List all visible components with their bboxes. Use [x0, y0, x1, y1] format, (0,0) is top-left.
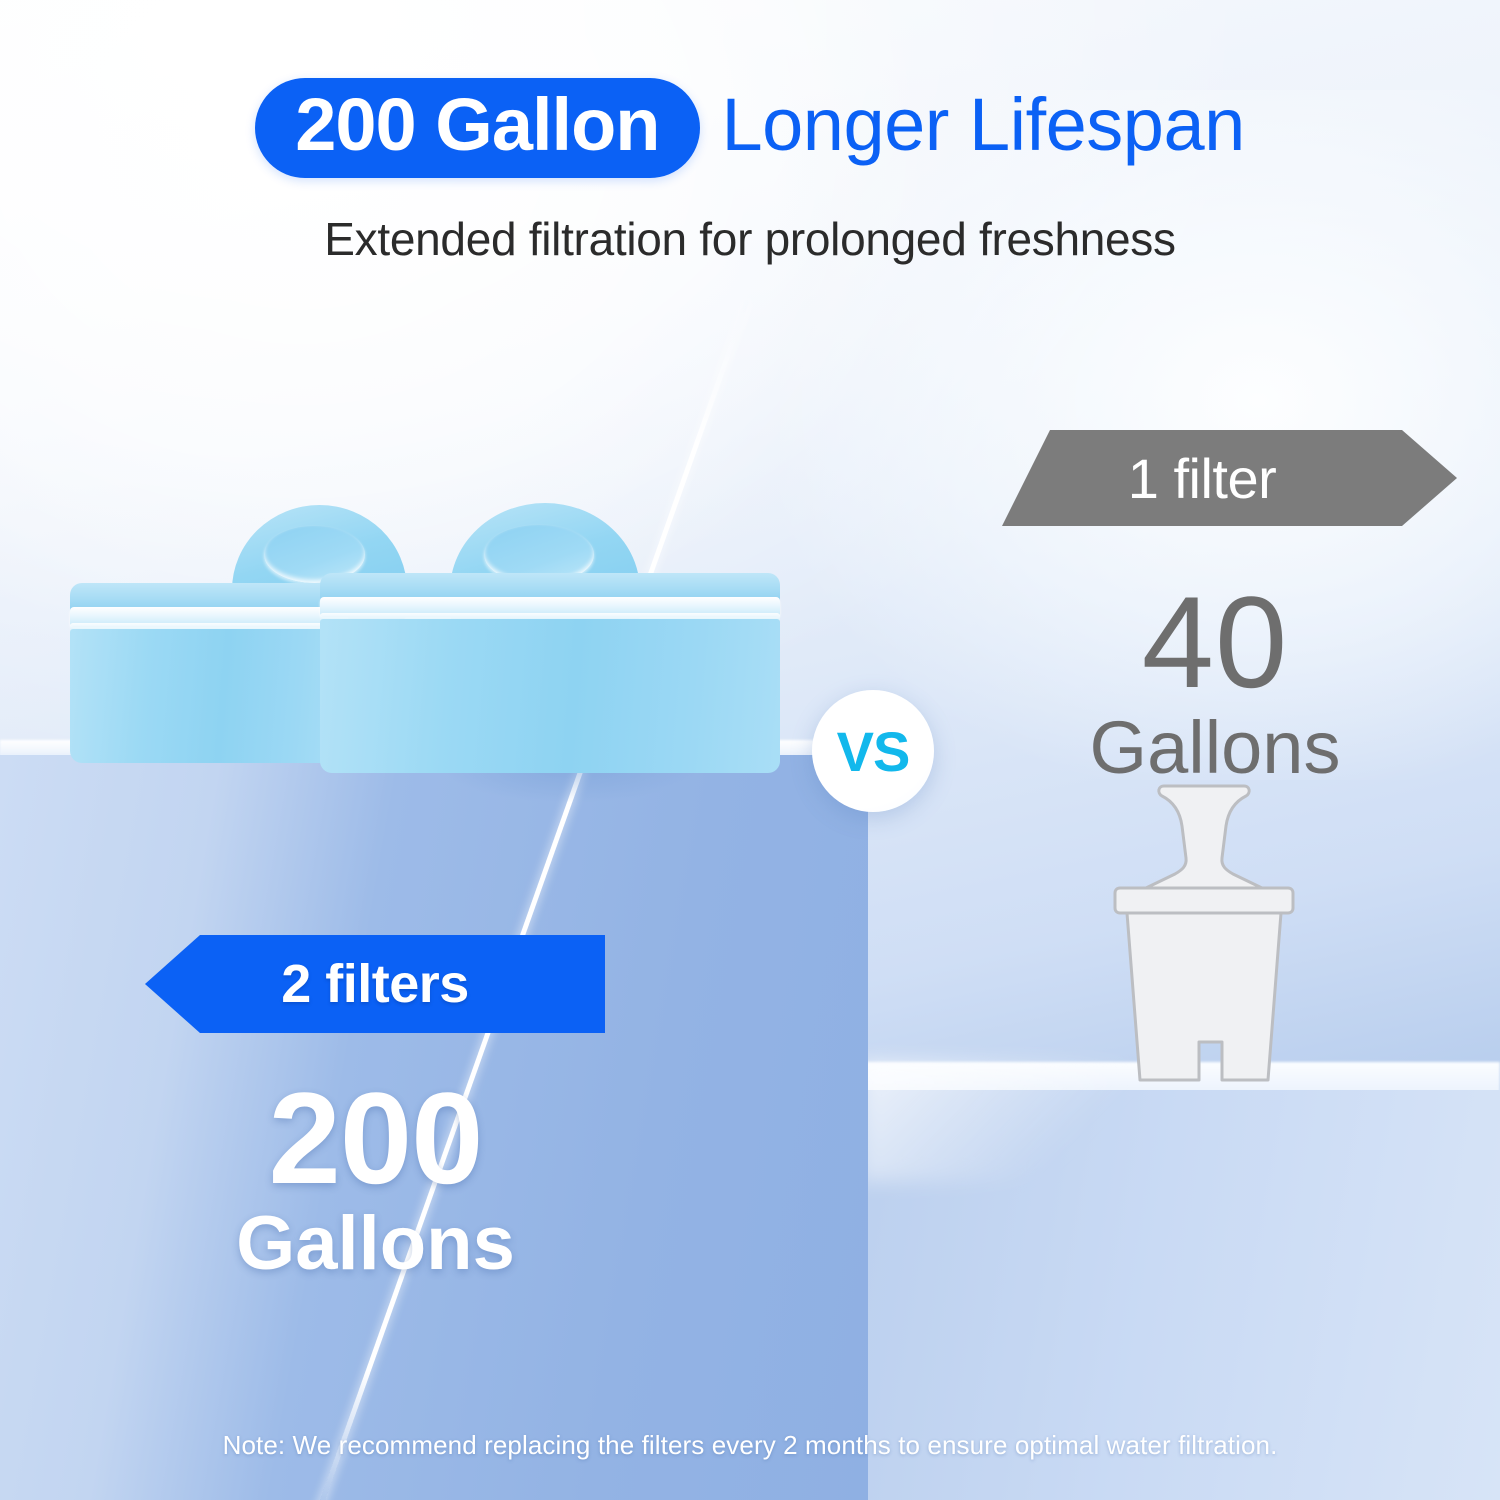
filter-cartridge-back — [70, 583, 348, 763]
ghost-filter-body — [1127, 913, 1281, 1080]
filter-cartridge-front — [320, 573, 780, 773]
ghost-pitcher-filter-outline-icon — [1100, 780, 1308, 1092]
infographic-canvas: 200 Gallon Longer Lifespan Extended filt… — [0, 0, 1500, 1500]
blue-filter-cartridge-pair-icon — [60, 505, 780, 795]
page-subtitle: Extended filtration for prolonged freshn… — [0, 212, 1500, 266]
page-title-rest: Longer Lifespan — [722, 88, 1245, 168]
right-stat: 40 Gallons — [1005, 580, 1425, 786]
header: 200 Gallon Longer Lifespan Extended filt… — [0, 78, 1500, 266]
filter-body — [70, 629, 348, 763]
gallon-badge: 200 Gallon — [255, 78, 699, 178]
right-stat-value: 40 — [1005, 580, 1425, 705]
vs-badge: VS — [812, 690, 934, 812]
left-stat-value: 200 — [148, 1075, 603, 1202]
vs-label: VS — [837, 719, 910, 784]
page-title: 200 Gallon Longer Lifespan — [0, 78, 1500, 178]
ghost-filter-collar — [1115, 888, 1293, 913]
footer-note: Note: We recommend replacing the filters… — [0, 1430, 1500, 1461]
right-stat-unit: Gallons — [1005, 709, 1425, 787]
ghost-filter-neck — [1146, 786, 1262, 888]
filter-body — [320, 619, 780, 773]
left-stat-unit: Gallons — [148, 1204, 603, 1284]
left-stat: 200 Gallons — [148, 1075, 603, 1284]
one-filter-badge-label: 1 filter — [1002, 430, 1402, 526]
two-filters-badge-label: 2 filters — [145, 935, 605, 1033]
